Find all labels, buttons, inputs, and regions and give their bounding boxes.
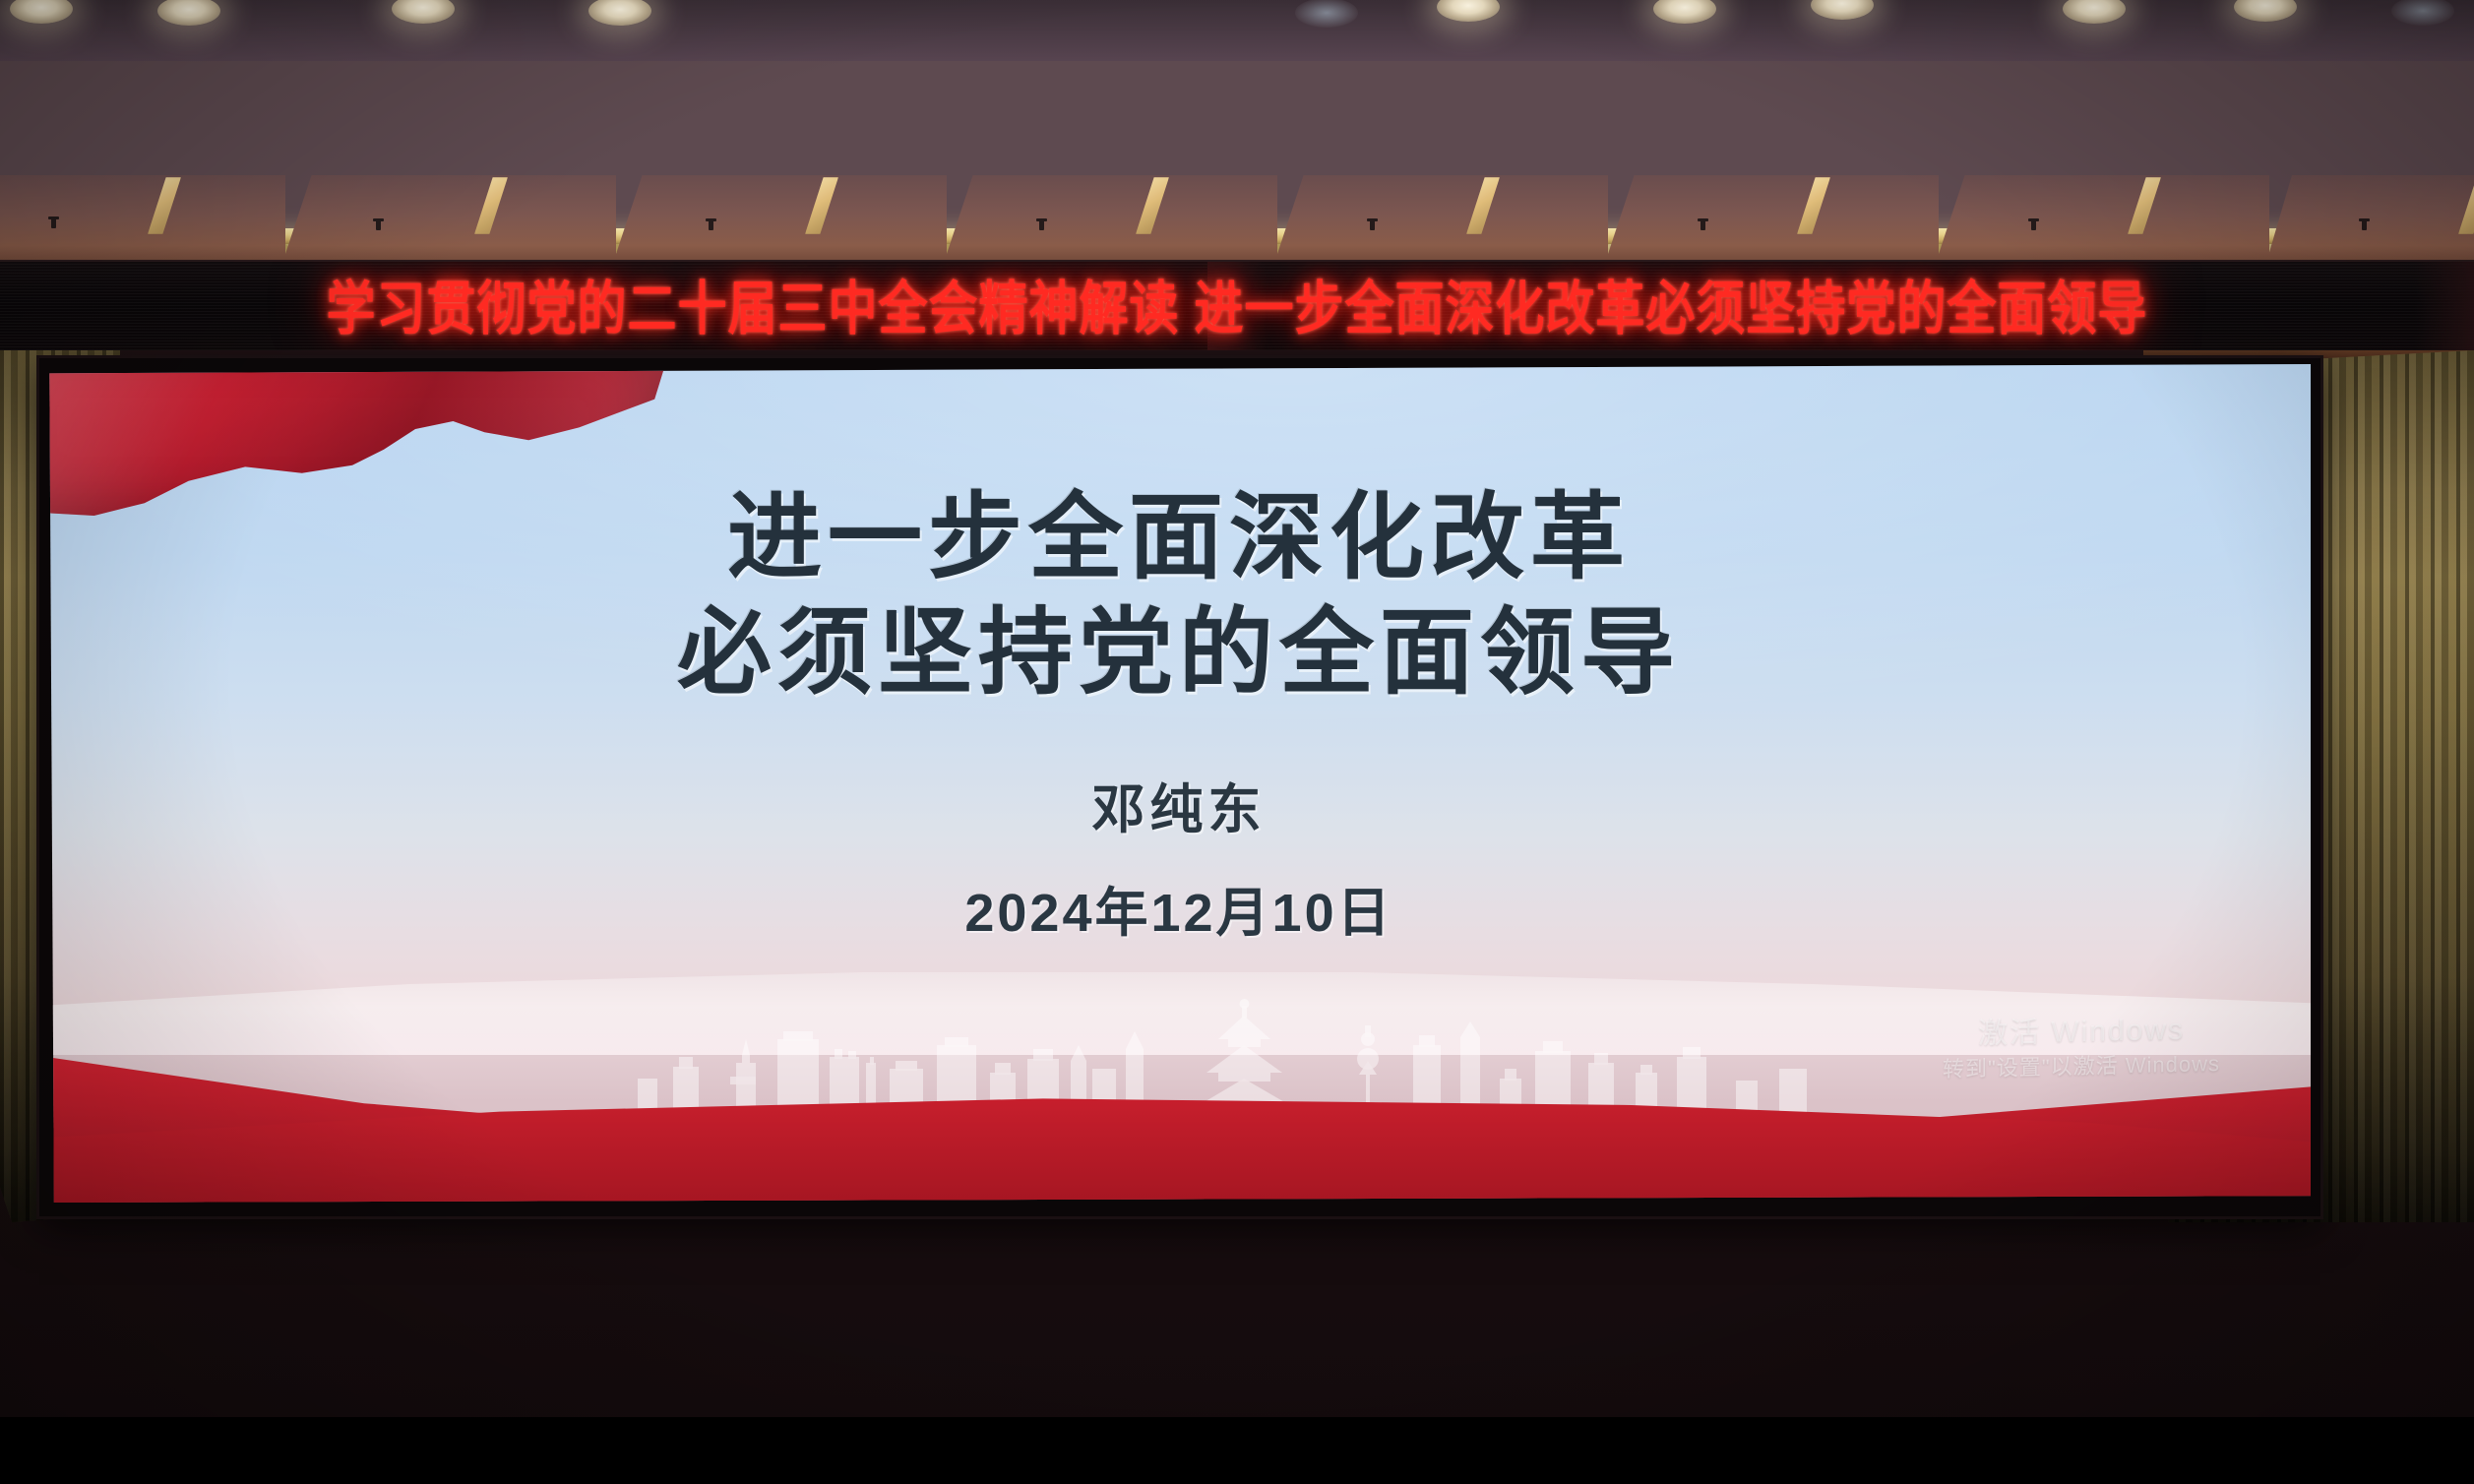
slide-author: 邓纯东 [1092,766,1267,843]
panel-accent-light [148,177,181,234]
angled-wall-panel [281,175,616,266]
watermark-line-1: 激活 Windows [1943,1010,2220,1055]
stage-room: 进一步全面深化改革 必须坚持党的全面领导 邓纯东 2024年12月10日 激活 … [0,350,2474,1417]
slide-date: 2024年12月10日 [964,869,1392,947]
banner-edge-shadow-right [2415,262,2474,356]
ceiling-spotlight [1701,218,1705,230]
ceiling-spotlight [1370,218,1375,230]
windows-activation-watermark: 激活 Windows 转到"设置"以激活 Windows [1943,1010,2220,1083]
slide-title-line1: 进一步全面深化改革 [727,480,1631,595]
ceiling-spotlight [2362,218,2367,230]
led-banner-text: 学习贯彻党的二十届三中全会精神解读 进一步全面深化改革必须坚持党的全面领导 [327,280,2148,339]
angled-wall-panel [612,175,947,266]
presentation-screen[interactable]: 进一步全面深化改革 必须坚持党的全面领导 邓纯东 2024年12月10日 激活 … [47,364,2311,1203]
panel-accent-light [1136,177,1169,234]
screenshot-root: 学习贯彻党的二十届三中全会精神解读 进一步全面深化改革必须坚持党的全面领导 [0,0,2474,1484]
bottom-letterbox-bar [0,1417,2474,1484]
angled-wall-panel [2265,175,2474,266]
ceiling-spotlight [709,218,713,230]
angled-panel-row [0,175,2474,266]
ceiling-spotlight [2031,218,2036,230]
led-scrolling-banner: 学习贯彻党的二十届三中全会精神解读 进一步全面深化改革必须坚持党的全面领导 [0,260,2474,356]
panel-accent-light [1797,177,1830,234]
ceiling-spotlight [51,216,56,228]
slide-title-line2: 必须坚持党的全面领导 [677,595,1681,711]
angled-wall-panel [1935,175,2269,266]
led-display-bezel: 进一步全面深化改革 必须坚持党的全面领导 邓纯东 2024年12月10日 激活 … [39,358,2320,1216]
angled-wall-panel [0,175,285,266]
panel-accent-light [805,177,838,234]
angled-wall-panel [1273,175,1608,266]
ceiling-spotlight [1039,218,1044,230]
panel-accent-light [2128,177,2161,234]
angled-wall-panel [943,175,1277,266]
panel-accent-light [1466,177,1500,234]
ceiling-spotlight [376,218,381,230]
angled-wall-panel [1604,175,1939,266]
panel-accent-light [2458,177,2474,234]
panel-accent-light [474,177,508,234]
